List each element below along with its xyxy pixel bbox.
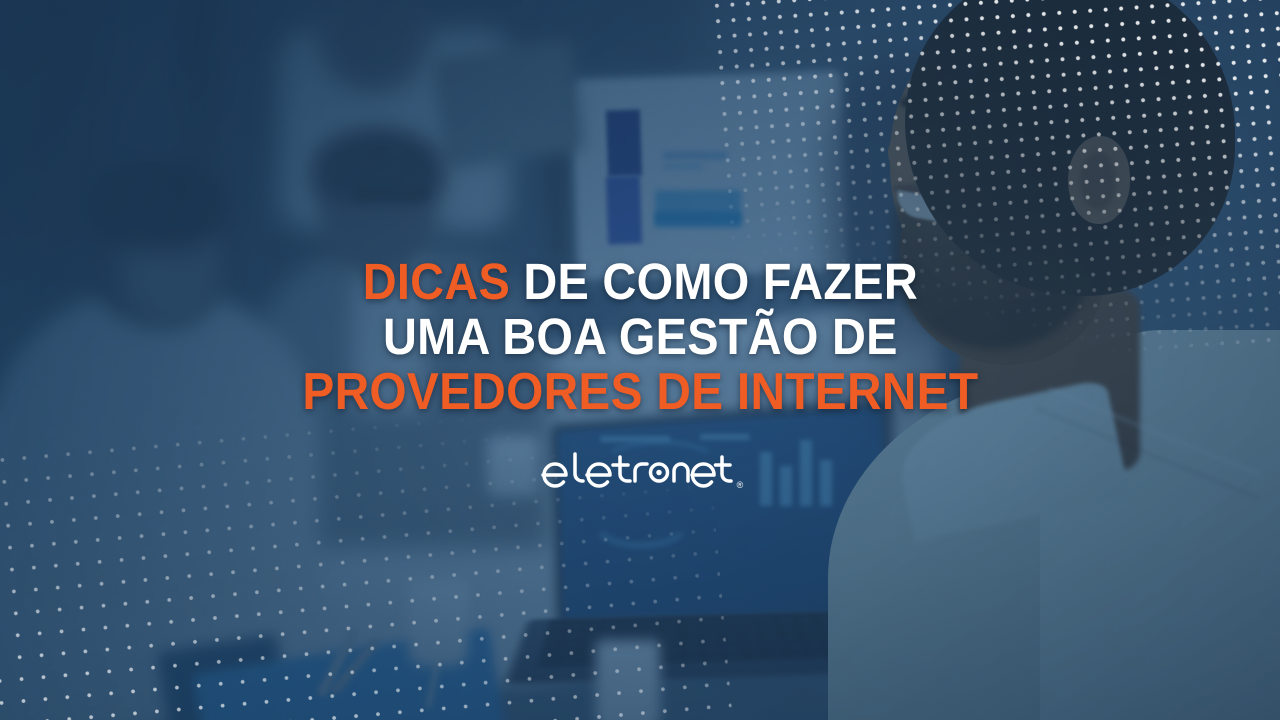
promo-banner: DICAS DE COMO FAZER UMA BOA GESTÃO DE PR… [0, 0, 1280, 720]
headline-line-1-rest [510, 253, 523, 310]
headline: DICAS DE COMO FAZER UMA BOA GESTÃO DE PR… [273, 256, 1008, 418]
headline-line-1: DICAS DE COMO FAZER [302, 256, 978, 307]
headline-line-2: UMA BOA GESTÃO DE [302, 311, 978, 362]
content-layer: DICAS DE COMO FAZER UMA BOA GESTÃO DE PR… [0, 0, 1280, 720]
headline-line-1-white: DE COMO FAZER [523, 253, 918, 310]
eletronet-logo-icon [537, 452, 733, 494]
headline-line-3: PROVEDORES DE INTERNET [302, 366, 978, 418]
eletronet-logo: eletronet [537, 452, 744, 494]
registered-trademark-icon: ® [737, 481, 744, 490]
headline-accent-word: DICAS [362, 253, 509, 310]
